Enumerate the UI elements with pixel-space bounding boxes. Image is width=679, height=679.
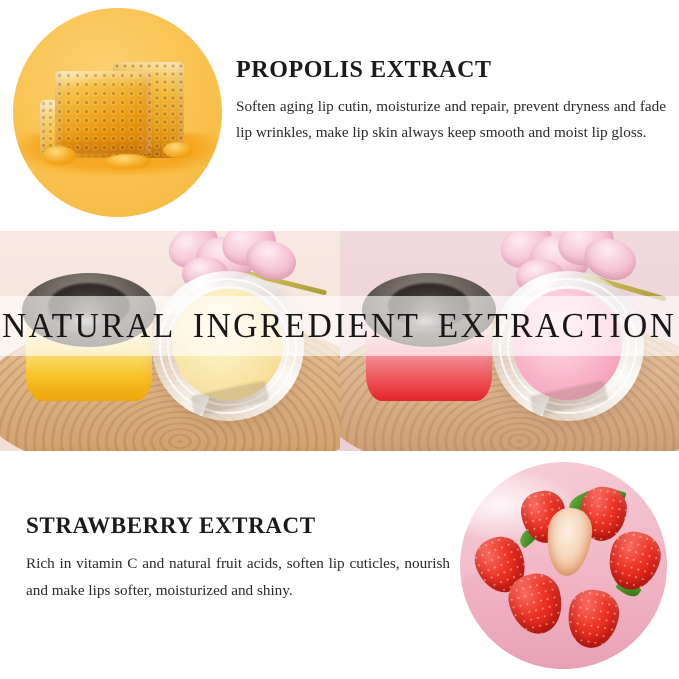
honeycomb-illustration	[13, 8, 222, 217]
product-infographic: PROPOLIS EXTRACT Soften aging lip cutin,…	[0, 0, 679, 679]
honey-drip	[163, 142, 192, 159]
banner-word-3: EXTRACTION	[438, 306, 677, 345]
product-photo-band: NATURALINGREDIENTEXTRACTION	[0, 231, 679, 451]
propolis-text-block: PROPOLIS EXTRACT Soften aging lip cutin,…	[236, 58, 666, 146]
honeycomb-cells	[55, 71, 151, 155]
banner-overlay: NATURALINGREDIENTEXTRACTION	[0, 296, 679, 356]
banner-text: NATURALINGREDIENTEXTRACTION	[2, 306, 676, 346]
honey-drip	[105, 154, 151, 169]
banner-word-1: NATURAL	[2, 306, 176, 345]
propolis-heading: PROPOLIS EXTRACT	[236, 58, 666, 82]
honeycomb-photo	[13, 8, 222, 217]
strawberry-text-block: STRAWBERRY EXTRACT Rich in vitamin C and…	[26, 514, 450, 604]
propolis-body: Soften aging lip cutin, moisturize and r…	[236, 94, 666, 146]
strawberry-body: Rich in vitamin C and natural fruit acid…	[26, 550, 450, 604]
strawberry-heading: STRAWBERRY EXTRACT	[26, 514, 450, 537]
honeycomb-piece-center	[55, 71, 151, 155]
strawberries-photo	[460, 462, 667, 669]
honey-drip	[42, 146, 75, 165]
banner-word-2: INGREDIENT	[193, 306, 420, 345]
